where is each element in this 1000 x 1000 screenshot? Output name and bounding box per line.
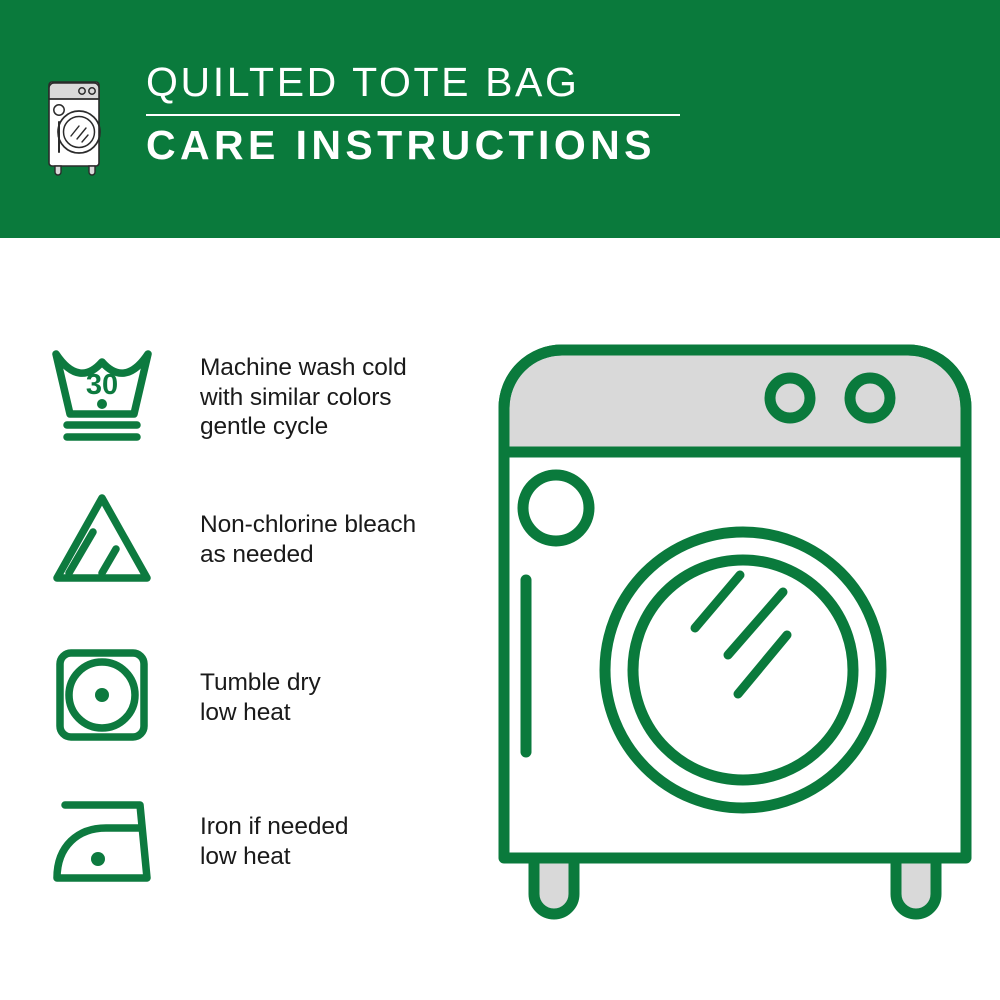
care-label-line: gentle cycle [200,412,407,442]
header-title-block: QUILTED TOTE BAG CARE INSTRUCTIONS [146,62,706,166]
care-label-line: Tumble dry [200,668,321,698]
care-item-label-machine-wash: Machine wash cold with similar colors ge… [200,353,407,442]
door-inner-ring [633,560,853,780]
care-item-label-bleach: Non-chlorine bleach as needed [200,510,416,569]
tumble-dry-icon [46,640,158,748]
product-title: QUILTED TOTE BAG [146,62,706,103]
care-item-label-tumble-dry: Tumble dry low heat [200,668,321,727]
care-item-bleach: Non-chlorine bleach as needed [46,486,466,594]
wash-temperature-value: 30 [86,369,118,401]
care-label-line: with similar colors [200,383,407,413]
title-divider [146,114,680,116]
care-label-line: low heat [200,698,321,728]
care-label-line: Machine wash cold [200,353,407,383]
leg-left [534,858,574,914]
iron-icon [46,790,158,898]
care-item-tumble-dry: Tumble dry low heat [46,640,466,748]
care-item-iron: Iron if needed low heat [46,790,466,898]
care-label-line: Non-chlorine bleach [200,510,416,540]
care-label-line: as needed [200,540,416,570]
bleach-triangle-icon [46,486,158,594]
page-subtitle: CARE INSTRUCTIONS [146,125,706,166]
indicator-light [523,475,589,541]
care-instruction-list: 30 Machine wash cold with similar colors… [0,238,470,1000]
washing-machine-illustration [490,330,980,930]
wash-tub-icon: 30 [46,338,158,446]
leg-right [896,858,936,914]
washing-machine-logo-icon [44,66,108,176]
shine-lines [695,575,787,694]
care-label-line: low heat [200,842,348,872]
care-label-line: Iron if needed [200,812,348,842]
care-item-machine-wash: 30 Machine wash cold with similar colors… [46,338,466,446]
care-item-label-iron: Iron if needed low heat [200,812,348,871]
header-banner: QUILTED TOTE BAG CARE INSTRUCTIONS [0,0,1000,238]
